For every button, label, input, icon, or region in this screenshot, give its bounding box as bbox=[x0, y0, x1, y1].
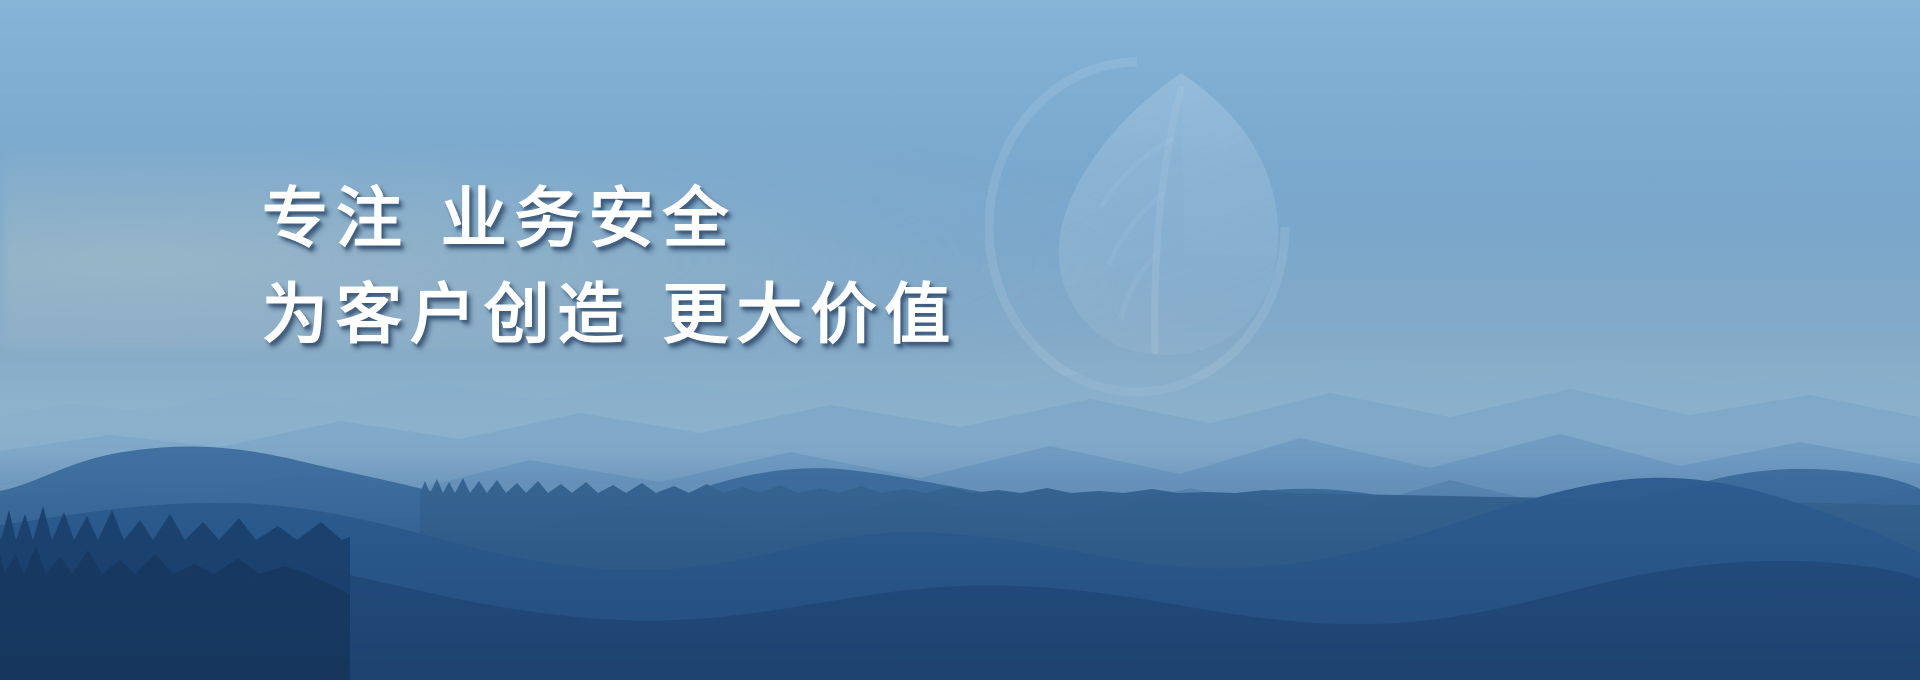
hero-banner: 专注 业务安全 为客户创造 更大价值 bbox=[0, 0, 1920, 680]
headline-block: 专注 业务安全 为客户创造 更大价值 bbox=[262, 178, 958, 356]
headline-line-1: 专注 业务安全 bbox=[262, 178, 958, 260]
headline-line-2: 为客户创造 更大价值 bbox=[262, 274, 958, 356]
